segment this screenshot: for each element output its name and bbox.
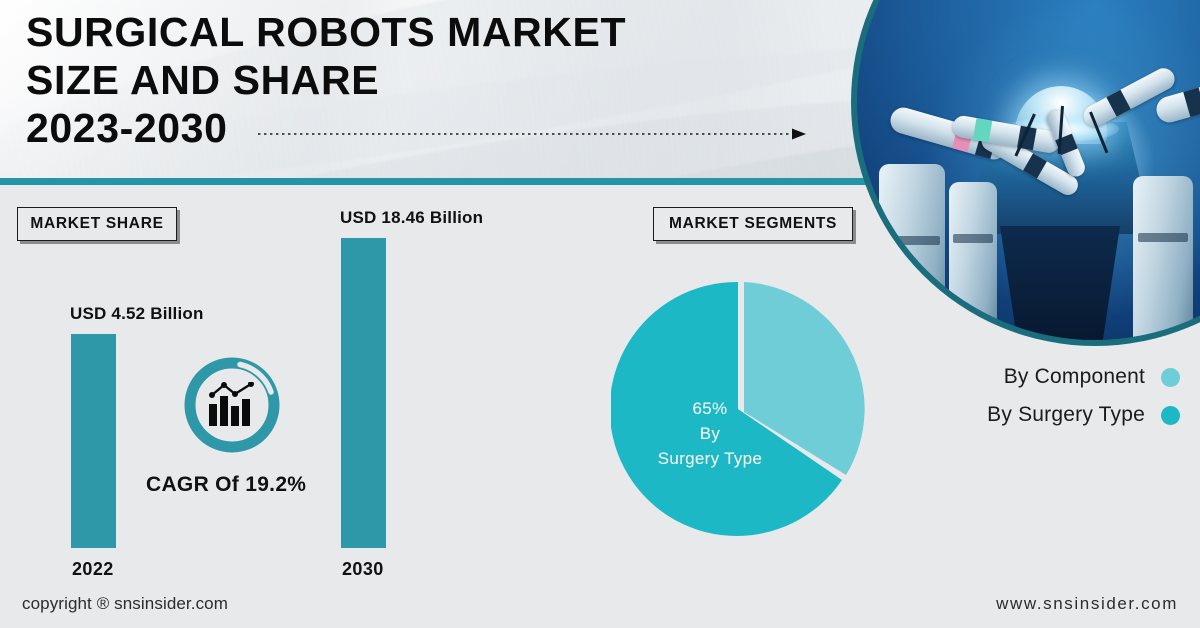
pie-slice-segment: Surgery Type bbox=[630, 446, 790, 471]
legend-item-by-surgery-type[interactable]: By Surgery Type bbox=[930, 396, 1180, 434]
infographic-canvas: SURGICAL ROBOTS MARKET SIZE AND SHARE 20… bbox=[0, 0, 1200, 628]
dotted-arrow-right-icon bbox=[258, 127, 810, 141]
legend-dot-icon bbox=[1161, 406, 1180, 425]
pie-slice-label: 65% By Surgery Type bbox=[630, 396, 790, 471]
legend-dot-icon bbox=[1161, 368, 1180, 387]
title-line-2: SIZE AND SHARE bbox=[26, 56, 826, 104]
pie-slice-by: By bbox=[630, 421, 790, 446]
title-line-1: SURGICAL ROBOTS MARKET bbox=[26, 8, 826, 56]
robot-cart bbox=[1133, 176, 1193, 340]
website-url[interactable]: www.snsinsider.com bbox=[996, 594, 1178, 614]
bar-chart-trend-icon bbox=[207, 382, 257, 426]
surgical-robot-photo-ring bbox=[851, 0, 1200, 346]
cagr-label: CAGR Of 19.2% bbox=[146, 473, 306, 497]
copyright-text: copyright ® snsinsider.com bbox=[22, 594, 228, 614]
bar-year-2022: 2022 bbox=[72, 559, 114, 580]
legend-label-by-component: By Component bbox=[1004, 365, 1145, 389]
market-share-label: MARKET SHARE bbox=[17, 207, 177, 241]
pie-slice-percent: 65% bbox=[630, 396, 790, 421]
teal-divider bbox=[0, 178, 892, 185]
market-segments-label: MARKET SEGMENTS bbox=[653, 207, 853, 241]
bar-2022 bbox=[71, 334, 116, 548]
bar-year-2030: 2030 bbox=[342, 559, 384, 580]
bar-2030 bbox=[341, 238, 386, 548]
surgical-robot-operating-room-photo bbox=[857, 0, 1200, 340]
legend-label-by-surgery-type: By Surgery Type bbox=[987, 403, 1145, 427]
pie-legend: By Component By Surgery Type bbox=[930, 358, 1180, 434]
legend-item-by-component[interactable]: By Component bbox=[930, 358, 1180, 396]
bar-value-2022: USD 4.52 Billion bbox=[70, 304, 204, 324]
robot-cart bbox=[949, 182, 997, 340]
robot-cart bbox=[879, 164, 945, 340]
operating-table-base bbox=[985, 226, 1135, 340]
bar-value-2030: USD 18.46 Billion bbox=[340, 208, 483, 228]
